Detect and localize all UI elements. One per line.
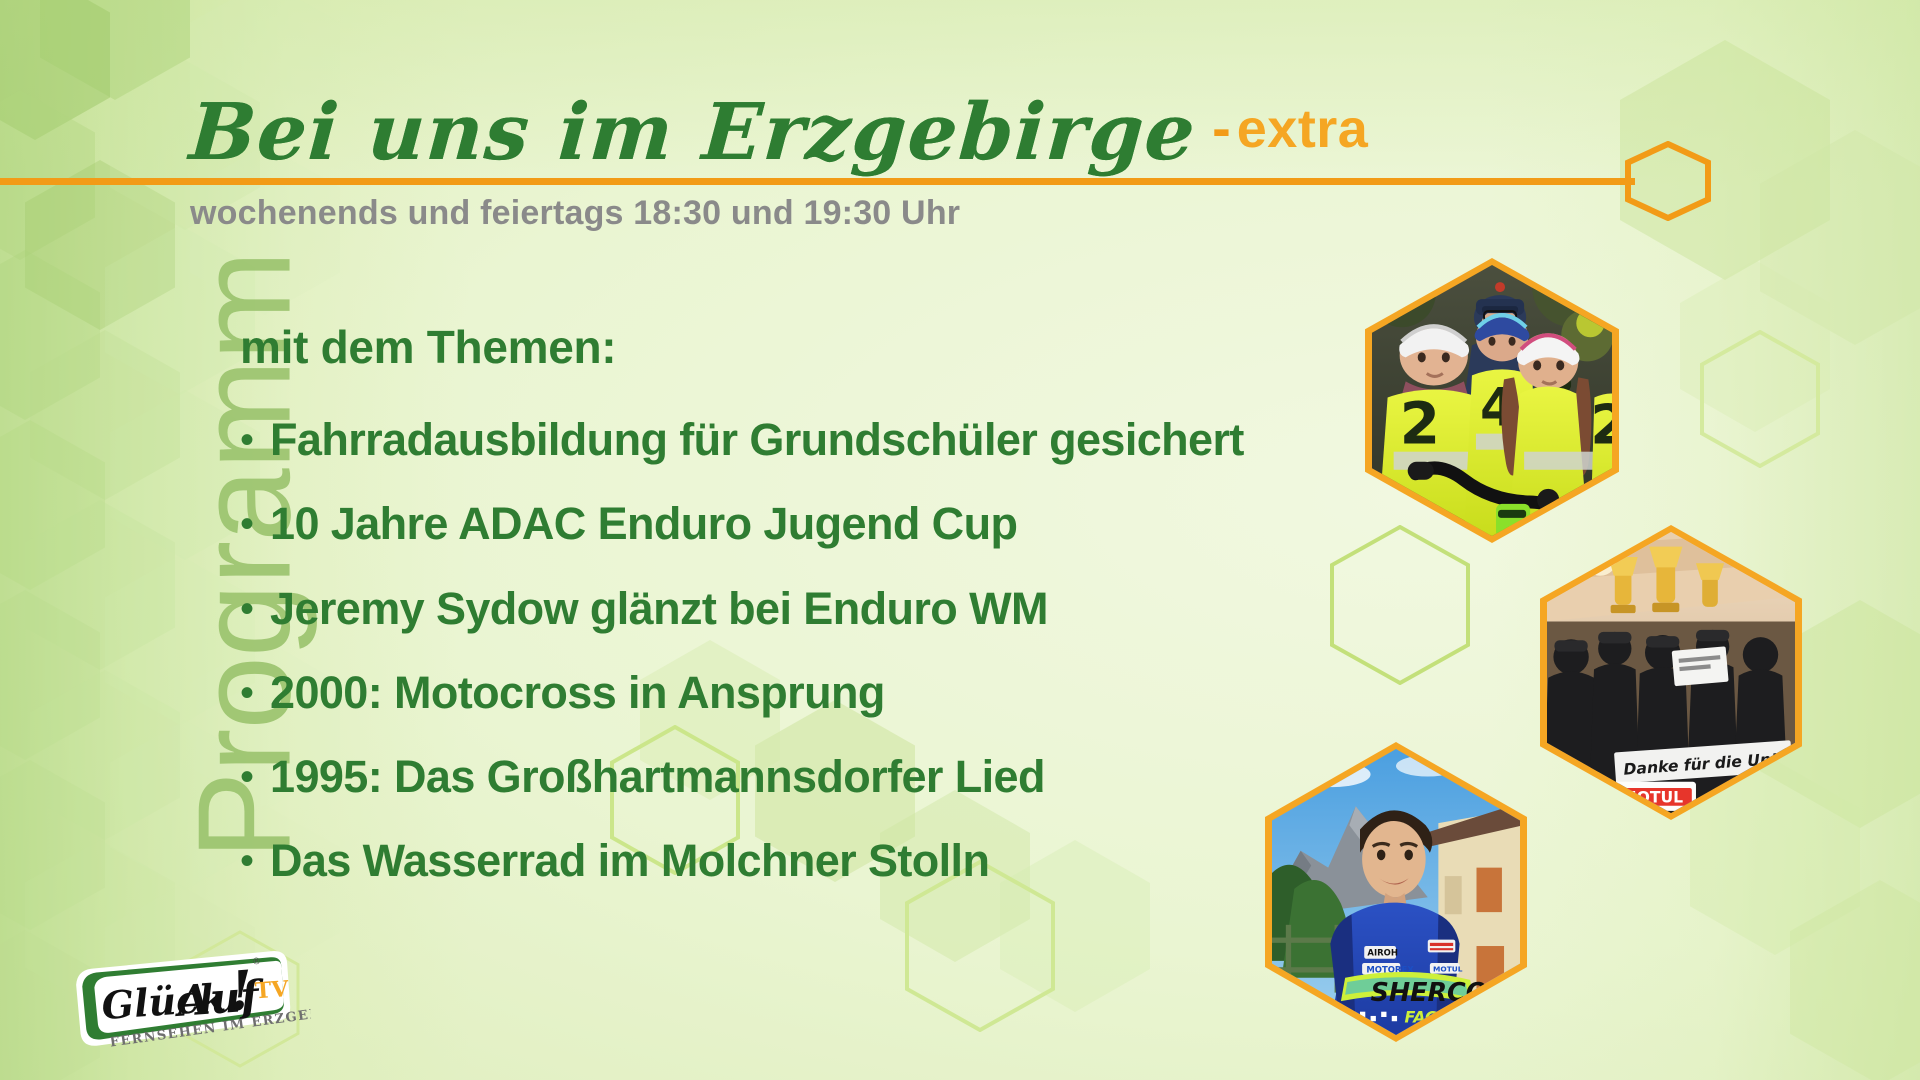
bullet-dot-icon: • — [240, 673, 254, 713]
svg-text:AIROH: AIROH — [1367, 948, 1398, 958]
topics-list: •Fahrradausbildung für Grundschüler gesi… — [240, 416, 1300, 885]
bullet-dot-icon: • — [240, 420, 254, 460]
topic-list-item[interactable]: •Jeremy Sydow glänzt bei Enduro WM — [240, 585, 1300, 632]
hexagon-outline-decoration — [1700, 330, 1820, 468]
topic-list-item[interactable]: •2000: Motocross in Ansprung — [240, 669, 1300, 716]
photo-enduro-rider-image: AIROH MOTOREX MOTUL SHERCO FACTORY — [1272, 749, 1520, 1035]
photo-award-ceremony-image: Danke für die Unter MOTUL 1 — [1547, 532, 1795, 813]
page-title: Bei uns im Erzgebirge - extra — [190, 95, 1368, 170]
svg-text:2: 2 — [1400, 390, 1441, 458]
page-subtitle: wochenends und feiertags 18:30 und 19:30… — [190, 194, 960, 233]
page-title-dash: - — [1212, 95, 1231, 160]
topic-list-item-label: Fahrradausbildung für Grundschüler gesic… — [270, 416, 1244, 463]
topic-list-item[interactable]: •10 Jahre ADAC Enduro Jugend Cup — [240, 500, 1300, 547]
svg-text:MOTUL: MOTUL — [1433, 964, 1463, 973]
bullet-dot-icon: • — [240, 589, 254, 629]
topic-list-item[interactable]: •Das Wasserrad im Molchner Stolln — [240, 837, 1300, 884]
bullet-dot-icon: • — [240, 504, 254, 544]
bullet-dot-icon: • — [240, 757, 254, 797]
topic-list-item[interactable]: •Fahrradausbildung für Grundschüler gesi… — [240, 416, 1300, 463]
header-divider-rule — [0, 178, 1635, 185]
hexagon-endcap-icon — [1625, 141, 1711, 221]
topic-list-item[interactable]: •1995: Das Großhartmannsdorfer Lied — [240, 753, 1300, 800]
svg-text:2: 2 — [1590, 394, 1612, 457]
hexagon-outline-decoration — [1330, 525, 1470, 685]
topic-list-item-label: 10 Jahre ADAC Enduro Jugend Cup — [270, 500, 1017, 547]
topic-list-item-label: 1995: Das Großhartmannsdorfer Lied — [270, 753, 1045, 800]
page-title-main: Bei uns im Erzgebirge — [187, 96, 1198, 170]
slide-canvas: Bei uns im Erzgebirge - extra wochenends… — [0, 0, 1920, 1080]
channel-logo[interactable]: Glück Auf ! TV ® FERNSEHEN IM ERZGEBIRGE — [67, 947, 314, 1068]
topic-list-item-label: Jeremy Sydow glänzt bei Enduro WM — [270, 585, 1048, 632]
topic-list-item-label: Das Wasserrad im Molchner Stolln — [270, 837, 989, 884]
topic-list-item-label: 2000: Motocross in Ansprung — [270, 669, 885, 716]
bullet-dot-icon: • — [240, 841, 254, 881]
photo-bike-safety-training-image: 2 4 7 — [1372, 265, 1612, 536]
logo-exclamation: ! — [227, 958, 255, 1023]
page-title-extra: extra — [1237, 98, 1369, 160]
logo-registered-mark: ® — [252, 957, 262, 968]
logo-tv-mark: TV — [254, 976, 290, 1004]
topics-panel: mit dem Themen: •Fahrradausbildung für G… — [240, 320, 1300, 922]
topics-lead-in: mit dem Themen: — [240, 320, 1300, 374]
